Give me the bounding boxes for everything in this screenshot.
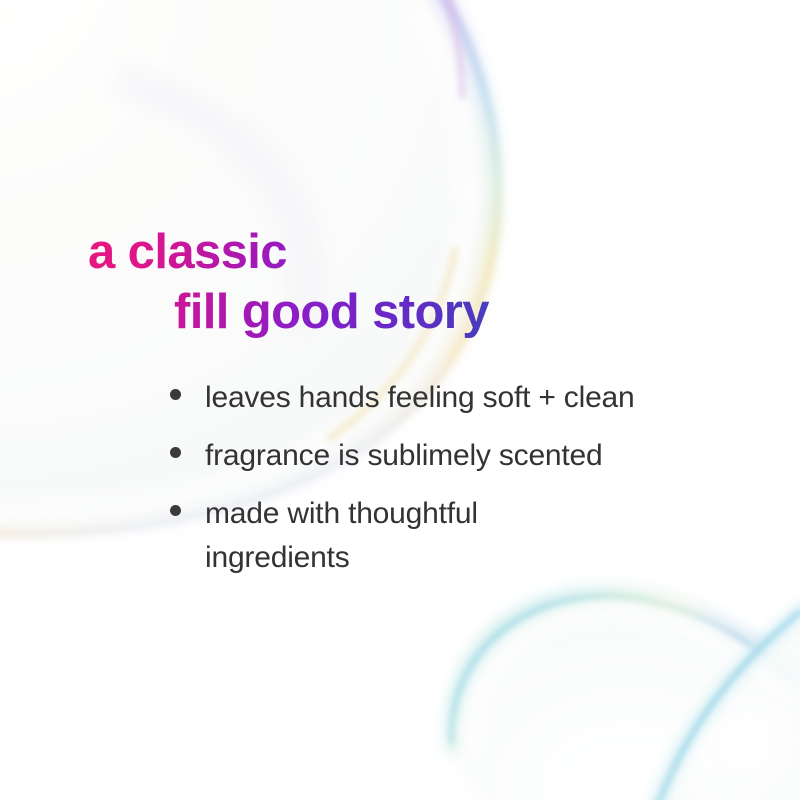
list-item-label: made with thoughtful ingredients [205, 492, 605, 580]
bullet-dot-icon [170, 389, 181, 400]
bullet-dot-icon [170, 505, 181, 516]
list-item: leaves hands feeling soft + clean [170, 376, 770, 420]
list-item: made with thoughtful ingredients [170, 492, 770, 580]
poster-content: a classic fill good story leaves hands f… [0, 0, 800, 800]
headline-line-1: a classic [88, 222, 728, 282]
bullet-dot-icon [170, 447, 181, 458]
list-item-label: leaves hands feeling soft + clean [205, 376, 745, 420]
poster-canvas: a classic fill good story leaves hands f… [0, 0, 800, 800]
list-item: fragrance is sublimely scented [170, 434, 770, 478]
benefits-list: leaves hands feeling soft + clean fragra… [170, 376, 770, 580]
headline-line-2: fill good story [88, 282, 728, 342]
list-item-label: fragrance is sublimely scented [205, 434, 745, 478]
page-title: a classic fill good story [88, 222, 728, 342]
